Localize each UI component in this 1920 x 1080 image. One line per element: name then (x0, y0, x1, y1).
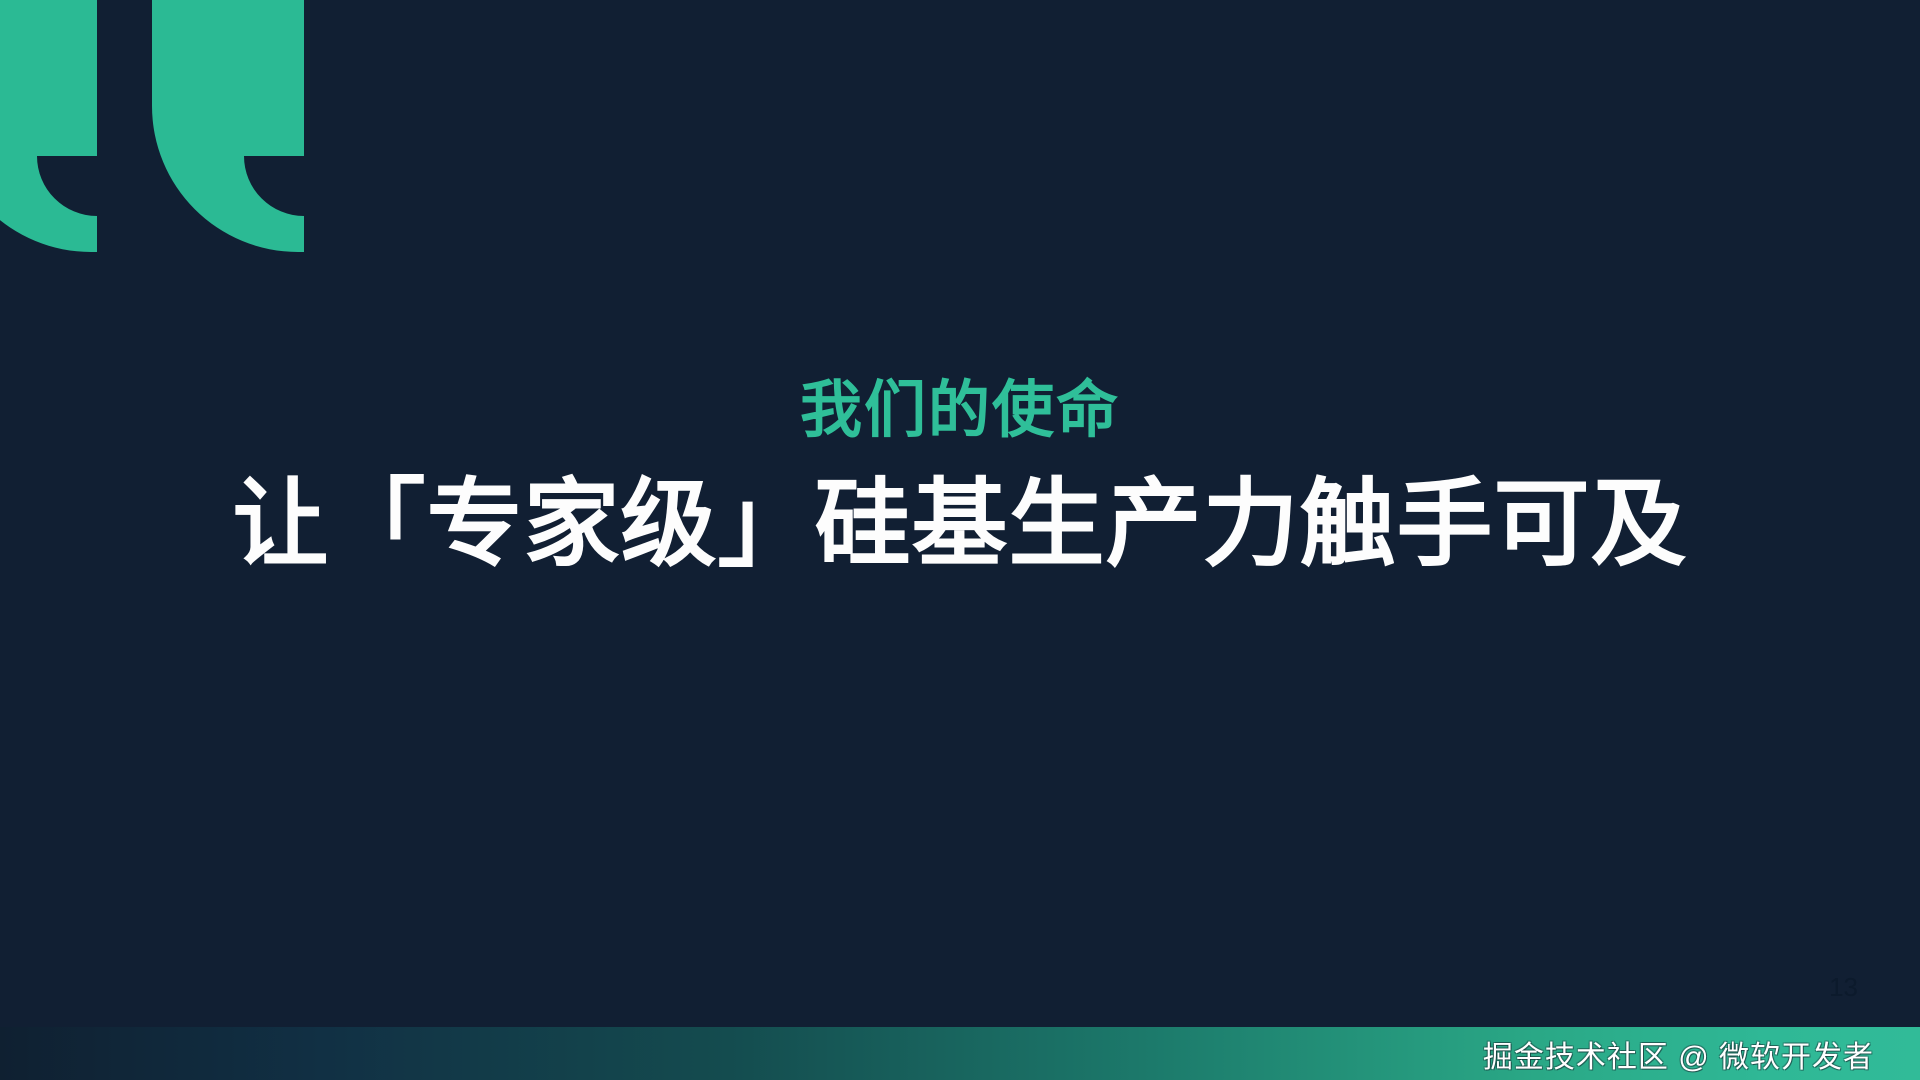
page-title: 让「专家级」硅基生产力触手可及 (233, 471, 1688, 579)
footer-bar: 掘金技术社区 @ 微软开发者 (0, 1027, 1920, 1080)
slide-canvas: 我们的使命 让「专家级」硅基生产力触手可及 13 掘金技术社区 @ 微软开发者 (0, 0, 1920, 1080)
slide-text-block: 我们的使命 让「专家级」硅基生产力触手可及 (0, 0, 1920, 1080)
watermark-text: 掘金技术社区 @ 微软开发者 (1483, 1032, 1874, 1076)
page-number: 13 (1829, 974, 1858, 1000)
eyebrow-title: 我们的使命 (800, 378, 1120, 443)
